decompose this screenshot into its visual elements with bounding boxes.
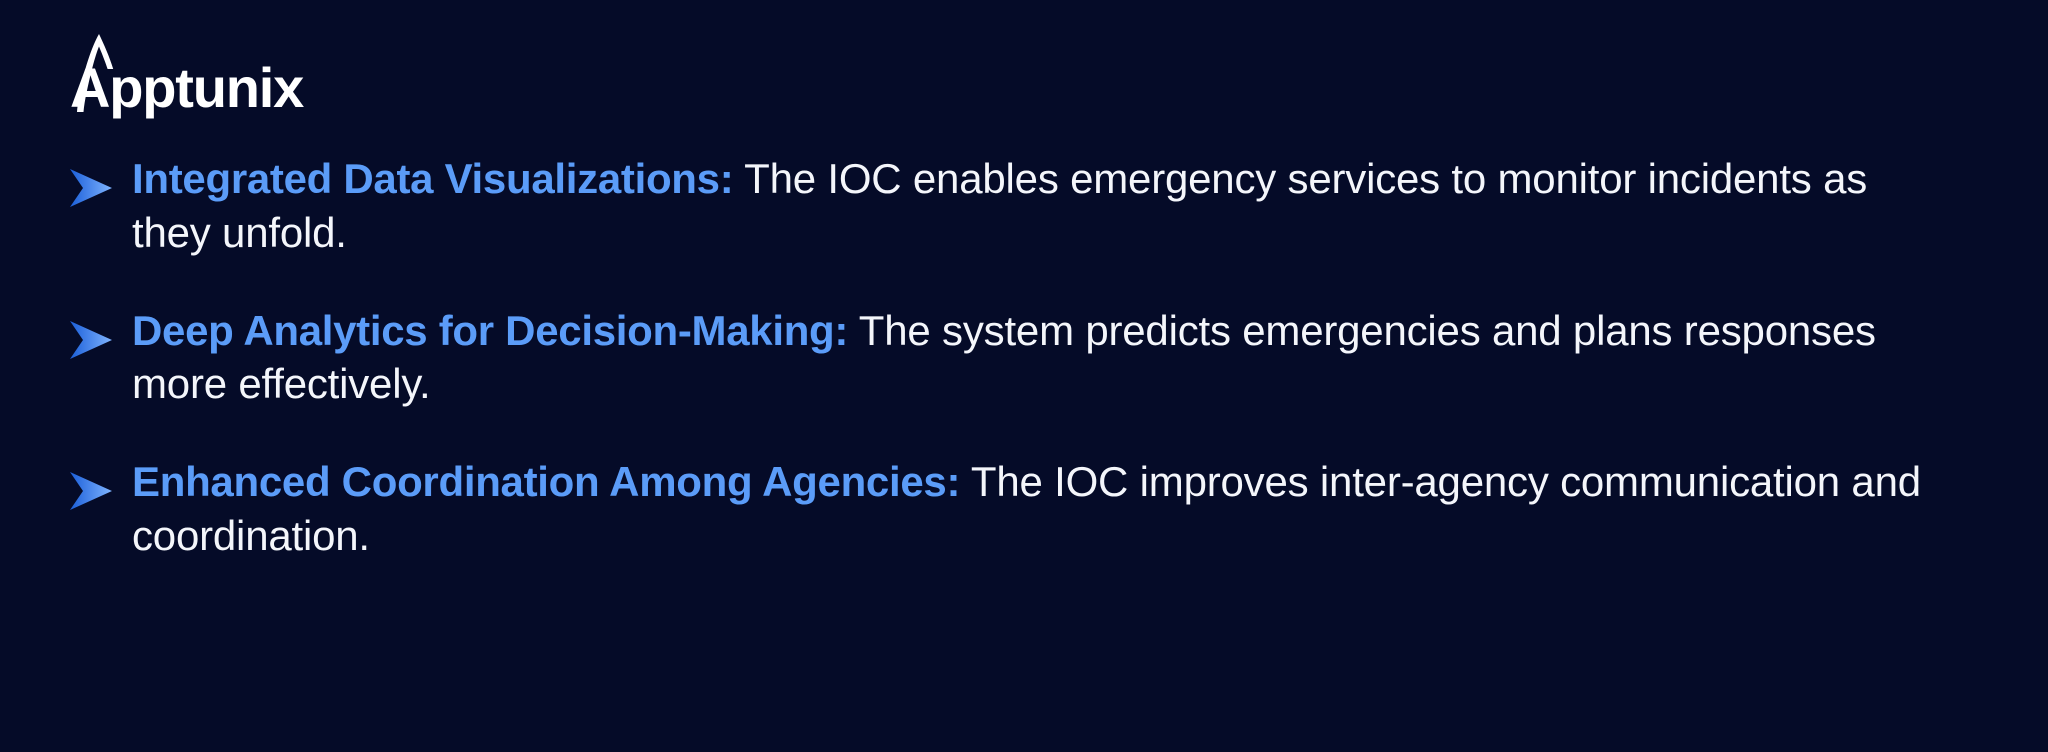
list-item-heading: Integrated Data Visualizations:: [132, 155, 733, 202]
apptunix-logo[interactable]: Apptunix: [68, 30, 303, 116]
list-item: Enhanced Coordination Among Agencies: Th…: [66, 455, 2006, 563]
list-item-text: Enhanced Coordination Among Agencies: Th…: [132, 455, 1932, 563]
arrow-right-icon: [66, 166, 118, 210]
feature-bullet-list: Integrated Data Visualizations: The IOC …: [66, 152, 2006, 563]
logo-wordmark: Apptunix: [70, 60, 303, 116]
slide-canvas: Apptunix Integrated Data Visualizations:…: [0, 0, 2048, 752]
list-item-text: Integrated Data Visualizations: The IOC …: [132, 152, 1932, 260]
list-item-heading: Deep Analytics for Decision-Making:: [132, 307, 848, 354]
list-item-heading: Enhanced Coordination Among Agencies:: [132, 458, 960, 505]
list-item-text: Deep Analytics for Decision-Making: The …: [132, 304, 1932, 412]
arrow-right-icon: [66, 318, 118, 362]
list-item: Integrated Data Visualizations: The IOC …: [66, 152, 2006, 260]
arrow-right-icon: [66, 469, 118, 513]
list-item: Deep Analytics for Decision-Making: The …: [66, 304, 2006, 412]
